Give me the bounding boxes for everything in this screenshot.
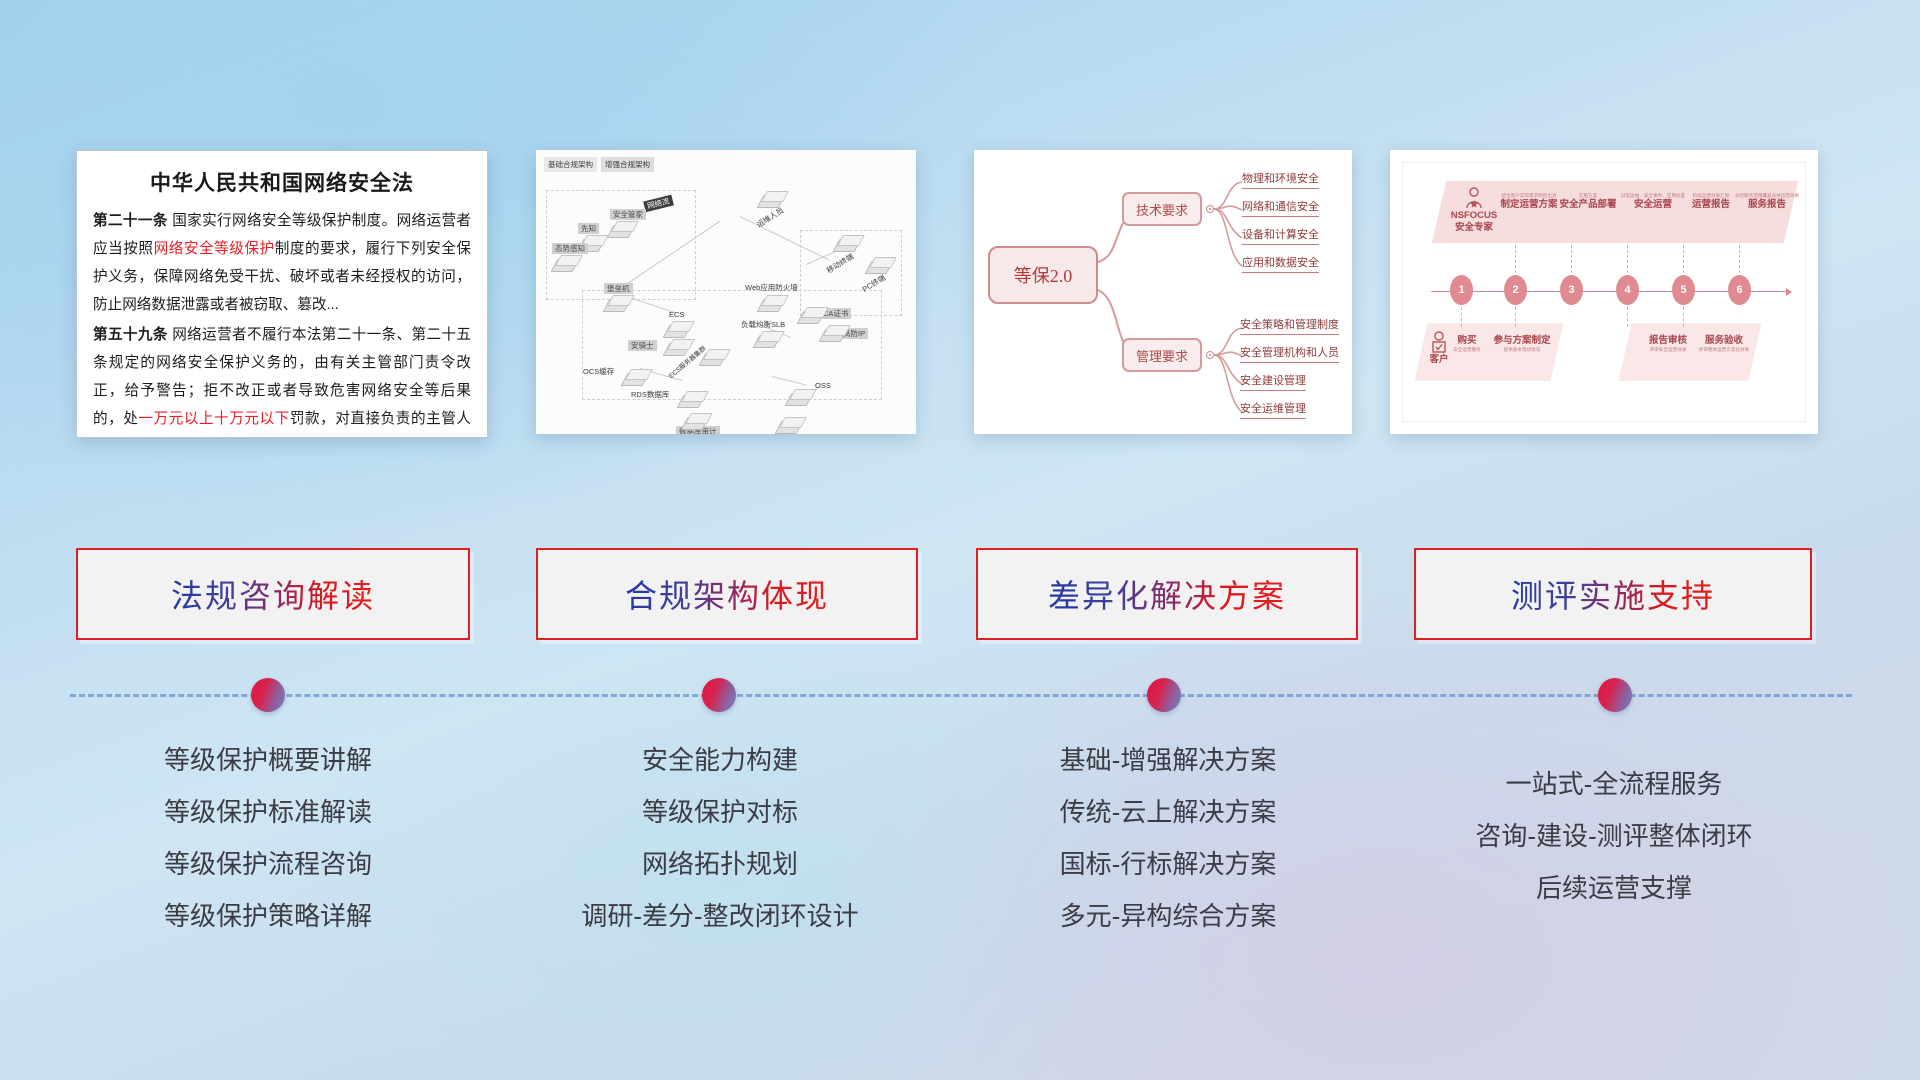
- detail-item: 后续运营支撑: [1414, 862, 1814, 914]
- flow-connector-5: [1683, 245, 1684, 273]
- node-pc-terminal: PC终端: [866, 256, 892, 274]
- server-icon: [604, 294, 630, 312]
- flow-step-1[interactable]: 1: [1450, 275, 1473, 305]
- timeline-dot-3[interactable]: [1147, 678, 1181, 712]
- node-ops-staff: 运维人员: [758, 190, 784, 208]
- service-flow-diagram: NSFOCUS 安全专家 结合客户实际需求明后出具 制定运营方案 实施方案 安全…: [1390, 150, 1818, 434]
- detail-item: 等级保护标准解读: [68, 786, 468, 838]
- architecture-diagram: 基础合规架构 增强合规架构: [536, 150, 916, 434]
- node-mobile-terminal: 移动终端: [834, 234, 860, 252]
- mindmap-leaf-app-data: 应用和数据安全: [1242, 254, 1319, 273]
- detail-column-1: 等级保护概要讲解 等级保护标准解读 等级保护流程咨询 等级保护策略详解: [68, 734, 468, 942]
- node-situational-awareness-label: 态势感知: [552, 243, 588, 254]
- detail-item: 多元-异构综合方案: [968, 890, 1368, 942]
- detail-item: 传统-云上解决方案: [968, 786, 1368, 838]
- node-ocs-cache: OCS缓存: [622, 368, 648, 386]
- article-59-label: 第五十九条: [93, 327, 168, 343]
- card-cloud-architecture[interactable]: 基础合规架构 增强合规架构: [536, 150, 916, 434]
- flow-bottom-sub-1: 安全运营服务: [1447, 347, 1487, 353]
- detail-column-2: 安全能力构建 等级保护对标 网络拓扑规划 调研-差分-整改闭环设计: [520, 734, 920, 942]
- detail-item: 等级保护概要讲解: [68, 734, 468, 786]
- section-header-assessment-support[interactable]: 测评实施支持: [1414, 548, 1812, 640]
- detail-item: 一站式-全流程服务: [1414, 758, 1814, 810]
- mindmap-branch-technical[interactable]: 技术要求: [1122, 192, 1202, 226]
- node-bastion-host-label: 堡垒机: [604, 283, 633, 294]
- expert-person-icon: [1464, 187, 1484, 209]
- mindmap-leaf-operation-maint: 安全运维管理: [1240, 400, 1306, 419]
- flow-connector-b4: [1683, 307, 1684, 327]
- detail-item: 基础-增强解决方案: [968, 734, 1368, 786]
- detail-item: 网络拓扑规划: [520, 838, 920, 890]
- flow-bottom-main-1: 购买: [1447, 335, 1487, 347]
- node-ca-cert: CA证书: [798, 306, 824, 324]
- flow-step-5[interactable]: 5: [1672, 275, 1695, 305]
- node-anqishi: 安骑士: [664, 338, 690, 356]
- card-mindmap-dengbao[interactable]: 等保2.0 技术要求 物理和环境安全 网络和通信安全 设备和计算安全 应用和数据…: [974, 150, 1352, 434]
- section-header-regulation-consulting[interactable]: 法规咨询解读: [76, 548, 470, 640]
- section-header-label: 合规架构体现: [625, 571, 829, 617]
- node-ecs: ECS: [664, 320, 690, 338]
- mindmap-leaf-policy-system: 安全策略和管理制度: [1240, 316, 1339, 335]
- server-icon: [622, 368, 648, 386]
- timeline-dashed-line: [70, 694, 1852, 697]
- flow-bottom-sub-4: 评审整体运营方案化效果: [1697, 347, 1751, 353]
- detail-item: 等级保护对标: [520, 786, 920, 838]
- section-header-label: 测评实施支持: [1511, 571, 1715, 617]
- storage-icon: [786, 388, 812, 406]
- timeline: [0, 672, 1920, 722]
- flow-step-3[interactable]: 3: [1560, 275, 1583, 305]
- detail-columns: 等级保护概要讲解 等级保护标准解读 等级保护流程咨询 等级保护策略详解 安全能力…: [0, 734, 1920, 974]
- detail-item: 调研-差分-整改闭环设计: [520, 890, 920, 942]
- node-bastion-host: 堡垒机: [604, 294, 630, 312]
- server-icon: [678, 390, 704, 408]
- node-oss: OSS: [786, 388, 812, 406]
- section-header-label: 法规咨询解读: [171, 571, 375, 617]
- flow-step-2[interactable]: 2: [1504, 275, 1527, 305]
- server-icon: [608, 220, 634, 238]
- server-icon: [798, 306, 824, 324]
- node-situational-awareness: 态势感知: [552, 254, 578, 272]
- network-icon: [776, 416, 802, 434]
- detail-item: 安全能力构建: [520, 734, 920, 786]
- law-card-title: 中华人民共和国网络安全法: [77, 167, 487, 197]
- flow-connector-6: [1739, 245, 1740, 273]
- mindmap: 等保2.0 技术要求 物理和环境安全 网络和通信安全 设备和计算安全 应用和数据…: [974, 150, 1352, 434]
- collapse-dot-icon[interactable]: [1206, 351, 1214, 359]
- mindmap-leaf-org-personnel: 安全管理机构和人员: [1240, 344, 1339, 363]
- mindmap-leaf-network-comm: 网络和通信安全: [1242, 198, 1319, 217]
- mindmap-leaf-device-compute: 设备和计算安全: [1242, 226, 1319, 245]
- node-ecs-label: ECS: [666, 309, 687, 320]
- mindmap-leaf-construction: 安全建设管理: [1240, 372, 1306, 391]
- flow-connector-3: [1571, 245, 1572, 273]
- node-anqishi-label: 安骑士: [628, 340, 657, 351]
- node-anti-ddos-ip: 高防IP: [820, 324, 846, 342]
- card-cybersecurity-law[interactable]: 中华人民共和国网络安全法 第二十一条 国家实行网络安全等级保护制度。网络运营者应…: [76, 150, 488, 438]
- cards-row: 中华人民共和国网络安全法 第二十一条 国家实行网络安全等级保护制度。网络运营者应…: [0, 150, 1920, 438]
- server-icon: [682, 412, 708, 430]
- server-icon: [754, 330, 780, 348]
- article-21-highlight: 网络安全等级保护: [154, 241, 275, 257]
- flow-top-main-5: 服务报告: [1729, 199, 1805, 211]
- flow-bottom-sub-3: 评审安全运营效果: [1641, 347, 1695, 353]
- node-rds-database-label: RDS数据库: [628, 389, 672, 400]
- customer-name: 客户: [1423, 354, 1455, 366]
- timeline-dot-1[interactable]: [251, 678, 285, 712]
- device-icon: [834, 234, 860, 252]
- node-db-audit: 数据库审计: [682, 412, 708, 430]
- section-headers-row: 法规咨询解读 合规架构体现 差异化解决方案 测评实施支持: [0, 548, 1920, 644]
- flow-step-4[interactable]: 4: [1616, 275, 1639, 305]
- section-header-differentiated-solution[interactable]: 差异化解决方案: [976, 548, 1358, 640]
- law-article-21: 第二十一条 国家实行网络安全等级保护制度。网络运营者应当按照网络安全等级保护制度…: [93, 207, 471, 319]
- node-waf: Web应用防火墙: [758, 294, 784, 312]
- architecture-tabs: 基础合规架构 增强合规架构: [544, 157, 654, 172]
- expert-name-line1: NSFOCUS: [1447, 210, 1501, 222]
- node-waf-label: Web应用防火墙: [742, 282, 801, 293]
- tab-basic-architecture[interactable]: 基础合规架构: [544, 157, 597, 172]
- flow-bottom-main-3: 报告审核: [1641, 335, 1695, 347]
- node-security-butler: 安全管家: [608, 220, 634, 238]
- detail-item: 咨询-建设-测评整体闭环: [1414, 810, 1814, 862]
- timeline-dot-2[interactable]: [702, 678, 736, 712]
- node-vpc: VPC: [776, 416, 802, 434]
- architecture-canvas: 网络流 安全管家 先知 态势感知 堡垒机: [542, 172, 910, 428]
- node-security-butler-label: 安全管家: [610, 209, 646, 220]
- flow-top-item-5: 总结服务范围覆盖总体运营效果 服务报告: [1729, 193, 1805, 211]
- flow-connector-2: [1515, 245, 1516, 273]
- flow-connector-b3: [1627, 307, 1628, 327]
- user-icon: [758, 190, 784, 208]
- detail-column-4: 一站式-全流程服务 咨询-建设-测评整体闭环 后续运营支撑: [1414, 758, 1814, 914]
- node-slb-label: 负载均衡SLB: [738, 319, 788, 330]
- article-21-label: 第二十一条: [93, 213, 168, 229]
- server-icon: [700, 348, 726, 366]
- section-header-label: 差异化解决方案: [1048, 571, 1286, 617]
- expert-name-line2: 安全专家: [1447, 222, 1501, 234]
- detail-column-3: 基础-增强解决方案 传统-云上解决方案 国标-行标解决方案 多元-异构综合方案: [968, 734, 1368, 942]
- detail-item: 等级保护流程咨询: [68, 838, 468, 890]
- timeline-dot-4[interactable]: [1598, 678, 1632, 712]
- customer-person-icon: [1430, 331, 1448, 353]
- mindmap-root-node[interactable]: 等保2.0: [988, 246, 1098, 304]
- server-icon: [758, 294, 784, 312]
- node-rds-database: RDS数据库: [678, 390, 704, 408]
- node-slb: 负载均衡SLB: [754, 330, 780, 348]
- flow-bottom-item-3: 报告审核 评审安全运营效果: [1641, 335, 1695, 353]
- tab-enhanced-architecture[interactable]: 增强合规架构: [601, 157, 654, 172]
- detail-item: 国标-行标解决方案: [968, 838, 1368, 890]
- flow-bottom-item-1: 购买 安全运营服务: [1447, 335, 1487, 353]
- law-card-body: 第二十一条 国家实行网络安全等级保护制度。网络运营者应当按照网络安全等级保护制度…: [77, 197, 487, 438]
- section-header-compliance-architecture[interactable]: 合规架构体现: [536, 548, 918, 640]
- flow-bottom-item-4: 服务验收 评审整体运营方案化效果: [1697, 335, 1751, 353]
- article-59-highlight-1: 一万元以上十万元以下: [138, 411, 289, 427]
- slide-root: 中华人民共和国网络安全法 第二十一条 国家实行网络安全等级保护制度。网络运营者应…: [0, 0, 1920, 1080]
- service-flow-inner: NSFOCUS 安全专家 结合客户实际需求明后出具 制定运营方案 实施方案 安全…: [1402, 162, 1806, 422]
- server-icon: [664, 338, 690, 356]
- flow-top-sub-5: 总结服务范围覆盖总体运营效果: [1729, 193, 1805, 199]
- flow-bottom-main-2: 参与方案制定: [1491, 335, 1553, 347]
- server-icon: [820, 324, 846, 342]
- flow-connector-4: [1627, 245, 1628, 273]
- mindmap-branch-management[interactable]: 管理要求: [1122, 338, 1202, 372]
- law-article-59: 第五十九条 网络运营者不履行本法第二十一条、第二十五条规定的网络安全保护义务的，…: [93, 321, 471, 438]
- node-xianzhi-label: 先知: [578, 223, 599, 234]
- mindmap-leaf-physical-env: 物理和环境安全: [1242, 170, 1319, 189]
- device-icon: [866, 256, 892, 274]
- collapse-dot-icon[interactable]: [1206, 205, 1214, 213]
- flow-bottom-sub-2: 提供基本现状情况: [1491, 347, 1553, 353]
- node-ecs-cluster: ECS服务器集群: [700, 348, 726, 366]
- server-icon: [664, 320, 690, 338]
- flow-step-6[interactable]: 6: [1728, 275, 1751, 305]
- detail-item: 等级保护策略详解: [68, 890, 468, 942]
- node-ocs-cache-label: OCS缓存: [580, 366, 617, 377]
- server-icon: [552, 254, 578, 272]
- card-service-flow[interactable]: NSFOCUS 安全专家 结合客户实际需求明后出具 制定运营方案 实施方案 安全…: [1390, 150, 1818, 434]
- flow-bottom-main-4: 服务验收: [1697, 335, 1751, 347]
- flow-bottom-item-2: 参与方案制定 提供基本现状情况: [1491, 335, 1553, 353]
- flow-connector-b1: [1461, 307, 1462, 327]
- flow-connector-b2: [1515, 307, 1516, 327]
